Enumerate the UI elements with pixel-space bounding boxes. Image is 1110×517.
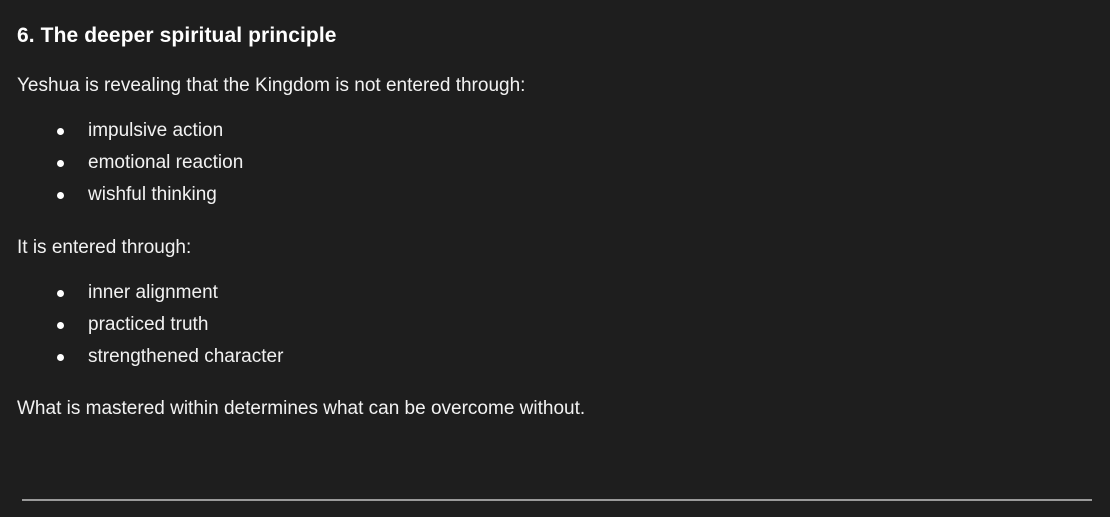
positive-bullet-list: inner alignment practiced truth strength…	[17, 260, 1110, 373]
list-item: inner alignment	[17, 277, 1110, 309]
list-item: wishful thinking	[17, 179, 1110, 211]
bullet-point-icon	[57, 128, 64, 135]
bullet-point-icon	[57, 322, 64, 329]
document-page: 6. The deeper spiritual principle Yeshua…	[0, 0, 1110, 517]
closing-paragraph: What is mastered within determines what …	[17, 373, 1110, 421]
negative-bullet-list: impulsive action emotional reaction wish…	[17, 98, 1110, 211]
intro-paragraph: Yeshua is revealing that the Kingdom is …	[17, 49, 1110, 98]
list-item: practiced truth	[17, 309, 1110, 341]
section-heading: 6. The deeper spiritual principle	[17, 0, 1110, 49]
list-item-label: impulsive action	[88, 120, 223, 141]
list-item: strengthened character	[17, 341, 1110, 373]
list-item-label: practiced truth	[88, 314, 208, 335]
document-content: 6. The deeper spiritual principle Yeshua…	[17, 0, 1110, 421]
list-item: impulsive action	[17, 115, 1110, 147]
list-item-label: inner alignment	[88, 282, 218, 303]
transition-paragraph: It is entered through:	[17, 211, 1110, 260]
section-divider	[22, 499, 1092, 501]
bullet-point-icon	[57, 192, 64, 199]
list-item-label: wishful thinking	[88, 184, 217, 205]
bullet-point-icon	[57, 290, 64, 297]
list-item-label: emotional reaction	[88, 152, 243, 173]
list-item: emotional reaction	[17, 147, 1110, 179]
bullet-point-icon	[57, 354, 64, 361]
list-item-label: strengthened character	[88, 346, 283, 367]
bullet-point-icon	[57, 160, 64, 167]
